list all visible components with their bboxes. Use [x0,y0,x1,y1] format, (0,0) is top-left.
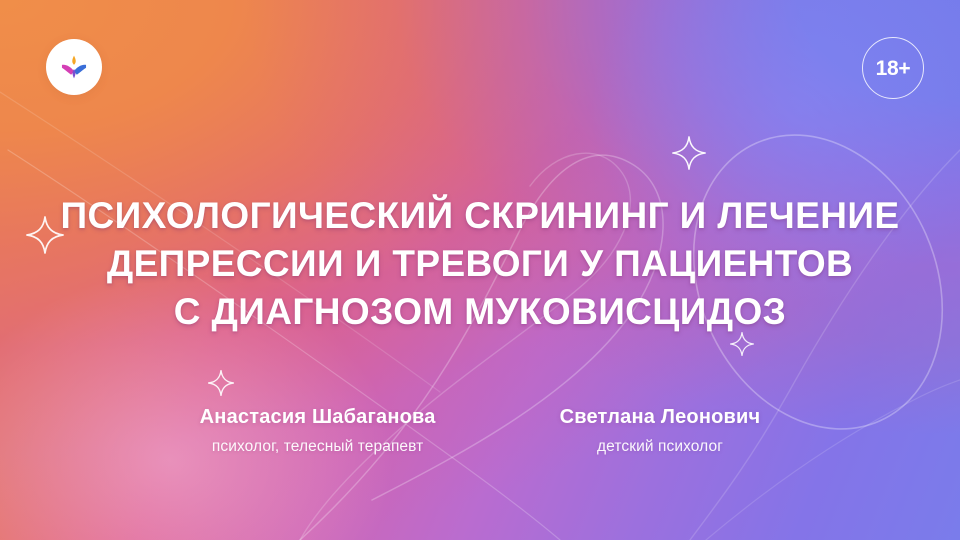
age-rating-badge: 18+ [862,37,924,99]
speaker-1: Анастасия Шабаганова психолог, телесный … [200,404,436,457]
slide-canvas: 18+ ПСИХОЛОГИЧЕСКИЙ СКРИНИНГ И ЛЕЧЕНИЕ Д… [0,0,960,540]
speaker-2-role: детский психолог [560,437,761,457]
title-line-1: ПСИХОЛОГИЧЕСКИЙ СКРИНИНГ И ЛЕЧЕНИЕ [0,192,960,240]
slide-title: ПСИХОЛОГИЧЕСКИЙ СКРИНИНГ И ЛЕЧЕНИЕ ДЕПРЕ… [0,192,960,336]
speaker-2: Светлана Леонович детский психолог [560,404,761,457]
speaker-list: Анастасия Шабаганова психолог, телесный … [0,404,960,457]
title-line-2: ДЕПРЕССИИ И ТРЕВОГИ У ПАЦИЕНТОВ [0,240,960,288]
sparkle-left-icon [26,216,64,254]
sparkle-top-center-icon [672,136,706,170]
speaker-2-name: Светлана Леонович [560,404,761,430]
age-rating-label: 18+ [876,58,911,79]
bird-leaf-logo-icon [57,50,91,84]
sparkle-mid-left-icon [208,370,234,396]
speaker-1-role: психолог, телесный терапевт [200,437,436,457]
brand-logo[interactable] [46,39,102,95]
speaker-1-name: Анастасия Шабаганова [200,404,436,430]
sparkle-mid-right-icon [730,332,754,356]
title-line-3: С ДИАГНОЗОМ МУКОВИСЦИДОЗ [0,288,960,336]
